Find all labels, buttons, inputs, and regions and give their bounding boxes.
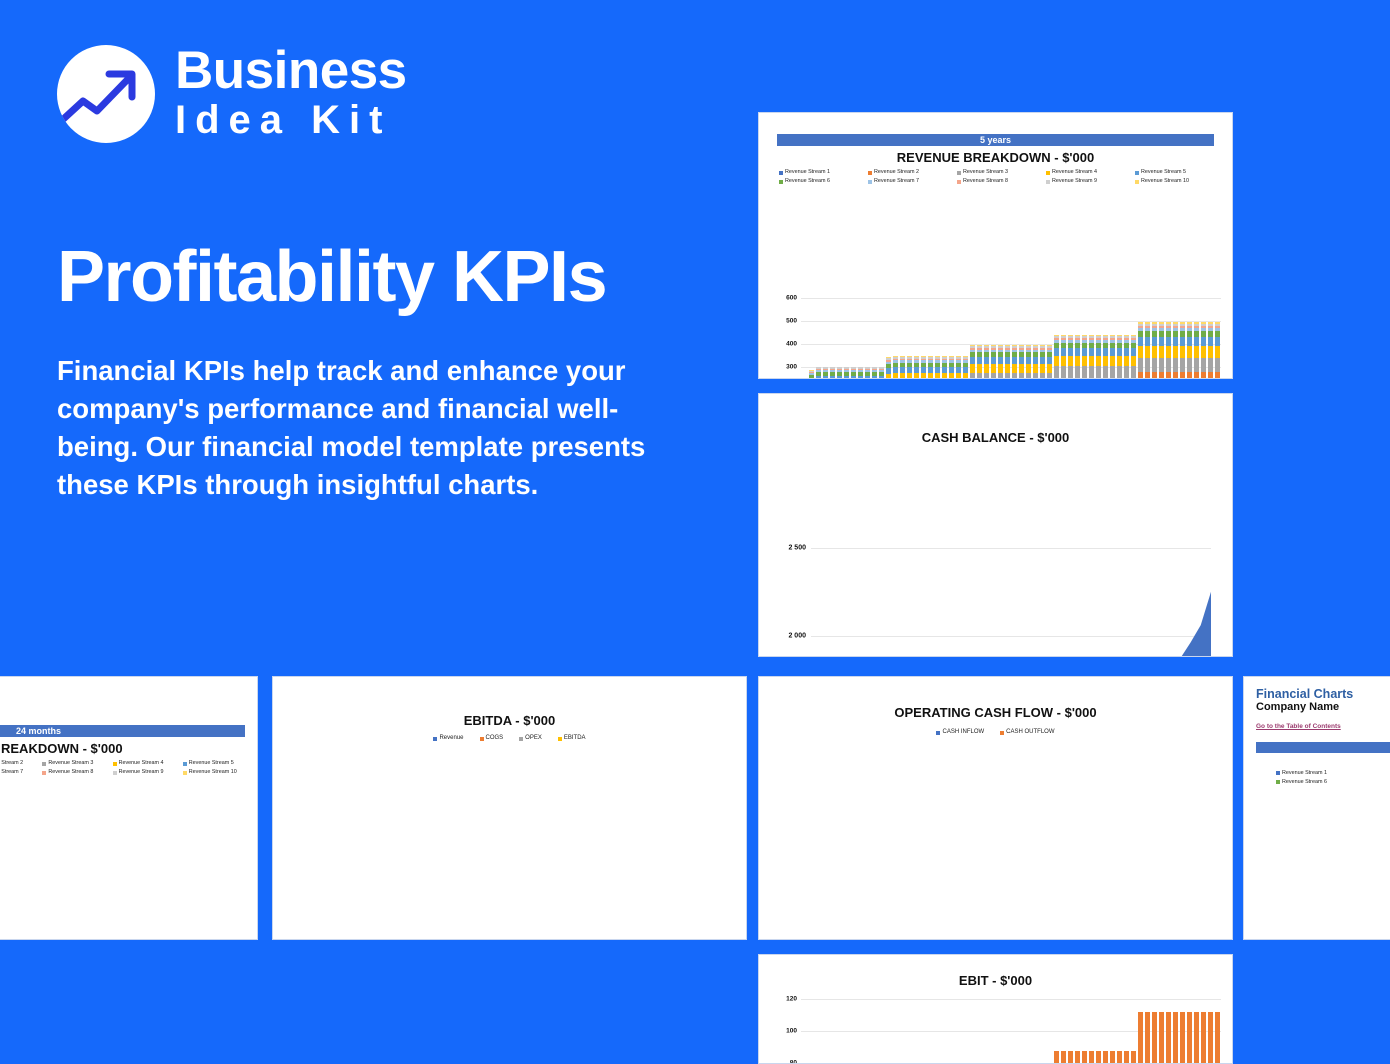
y-axis-tick-label: 400	[759, 340, 797, 347]
y-axis-tick-label: 120	[759, 996, 797, 1003]
panel-ebit: EBIT - $'000 12010080	[758, 954, 1233, 1064]
bar-segment	[858, 376, 864, 379]
bar-segment	[1103, 356, 1109, 367]
bar-segment	[1131, 366, 1137, 379]
bar-segment	[1082, 348, 1088, 356]
bar-segment	[914, 373, 920, 379]
bar-segment	[1208, 358, 1214, 372]
bar-segment	[1054, 348, 1060, 356]
bar	[893, 356, 899, 379]
bar	[1180, 1012, 1185, 1064]
brand-name-secondary: Idea Kit	[175, 97, 407, 143]
bar-segment	[928, 373, 934, 379]
panel-revenue-breakdown-24m: 24 months REAKDOWN - $'000 Revenue Strea…	[0, 676, 258, 940]
bar-segment	[1152, 372, 1158, 379]
bar-segment	[1201, 346, 1207, 358]
bar-segment	[1187, 346, 1193, 358]
bar	[970, 345, 976, 379]
panel-ebitda: EBITDA - $'000 RevenueCOGSOPEXEBITDA 600…	[272, 676, 747, 940]
bar	[1082, 335, 1088, 379]
bar	[1068, 335, 1074, 379]
bar-segment	[949, 373, 955, 379]
bar-segment	[1061, 366, 1067, 379]
bar-segment	[1166, 346, 1172, 358]
bar-segment	[1026, 364, 1032, 373]
bar	[1061, 335, 1067, 379]
bar	[1089, 1051, 1094, 1064]
bar	[1194, 1012, 1199, 1064]
bar-segment	[1026, 357, 1032, 364]
bar	[1173, 1012, 1178, 1064]
bar-segment	[1138, 372, 1144, 379]
bar-segment	[1047, 357, 1053, 364]
bar	[984, 345, 990, 379]
bar-segment	[1096, 348, 1102, 356]
bar-segment	[816, 376, 822, 379]
bar-segment	[1194, 337, 1200, 345]
bar	[1117, 1051, 1122, 1064]
bar-segment	[1152, 337, 1158, 345]
bar	[1215, 1012, 1220, 1064]
bar-segment	[991, 364, 997, 373]
bar-segment	[1208, 372, 1214, 379]
bar-segment	[1208, 337, 1214, 345]
bar	[1166, 322, 1172, 379]
bar	[942, 356, 948, 379]
bar-segment	[1215, 358, 1221, 372]
bar-segment	[1026, 373, 1032, 379]
bar	[935, 356, 941, 379]
bar	[928, 356, 934, 379]
bar-segment	[1145, 358, 1151, 372]
bar-segment	[1215, 346, 1221, 358]
bar-segment	[1124, 366, 1130, 379]
bar	[1145, 322, 1151, 379]
bar-segment	[1173, 346, 1179, 358]
bar	[1103, 1051, 1108, 1064]
bar	[1075, 1051, 1080, 1064]
bar	[1117, 335, 1123, 379]
bar	[1054, 1051, 1059, 1064]
bar-segment	[1117, 348, 1123, 356]
bar-segment	[1201, 358, 1207, 372]
y-axis-tick-label: 100	[759, 1028, 797, 1035]
bar-segment	[1173, 372, 1179, 379]
bar-segment	[1103, 366, 1109, 379]
bar	[1138, 1012, 1143, 1064]
hero-description: Financial KPIs help track and enhance yo…	[57, 352, 647, 504]
bar	[1131, 335, 1137, 379]
bar-segment	[998, 373, 1004, 379]
bar	[837, 367, 843, 379]
bar	[1194, 322, 1200, 379]
bar-segment	[956, 373, 962, 379]
bar-segment	[900, 373, 906, 379]
bar	[1124, 335, 1130, 379]
bar-series	[801, 298, 1221, 379]
bar-segment	[1173, 358, 1179, 372]
bar-segment	[1124, 356, 1130, 367]
bar-segment	[1040, 373, 1046, 379]
bar-segment	[1138, 358, 1144, 372]
bar-segment	[1117, 356, 1123, 367]
bar-segment	[1040, 364, 1046, 373]
bar-segment	[1145, 337, 1151, 345]
bar-segment	[1075, 348, 1081, 356]
bar-segment	[1075, 366, 1081, 379]
bar-segment	[1110, 366, 1116, 379]
bar-segment	[1159, 337, 1165, 345]
bar	[998, 345, 1004, 379]
bar-segment	[1033, 373, 1039, 379]
bar-segment	[1047, 373, 1053, 379]
bar-segment	[977, 364, 983, 373]
bar-segment	[1033, 357, 1039, 364]
bar-segment	[1110, 356, 1116, 367]
bar-segment	[851, 376, 857, 379]
bar-segment	[1047, 364, 1053, 373]
bar-segment	[1117, 366, 1123, 379]
bar	[1187, 322, 1193, 379]
bar	[1096, 1051, 1101, 1064]
bar	[865, 367, 871, 379]
bar	[1145, 1012, 1150, 1064]
bar-segment	[1180, 372, 1186, 379]
bar-segment	[1019, 364, 1025, 373]
y-axis-tick-label: 600	[759, 295, 797, 302]
bar-segment	[977, 373, 983, 379]
bar-segment	[921, 373, 927, 379]
bar	[900, 356, 906, 379]
bar-segment	[1054, 356, 1060, 367]
bar-segment	[809, 375, 815, 378]
bar-segment	[1089, 356, 1095, 367]
bar-segment	[1145, 346, 1151, 358]
cash-balance-area	[759, 394, 1233, 657]
bar	[823, 367, 829, 379]
bar	[844, 367, 850, 379]
bar-segment	[1068, 356, 1074, 367]
bar	[851, 367, 857, 379]
bar	[921, 356, 927, 379]
bar	[963, 356, 969, 379]
bar-segment	[823, 376, 829, 379]
brand-logo: Business Idea Kit	[57, 44, 407, 143]
bar-segment	[1159, 346, 1165, 358]
bar	[1054, 335, 1060, 379]
bar	[830, 367, 836, 379]
growth-chart-circle-icon	[57, 45, 155, 143]
bar-segment	[1124, 348, 1130, 356]
bar-segment	[1061, 356, 1067, 367]
bar-segment	[970, 373, 976, 379]
bar-segment	[1012, 357, 1018, 364]
panel-financial-charts: Financial Charts Company Name Go to the …	[1243, 676, 1390, 940]
bar	[1040, 345, 1046, 379]
bar	[1103, 335, 1109, 379]
bar-segment	[998, 364, 1004, 373]
bar	[1166, 1012, 1171, 1064]
y-axis-tick-label: 300	[759, 363, 797, 370]
bar-segment	[1005, 364, 1011, 373]
bar	[858, 367, 864, 379]
bar	[1159, 322, 1165, 379]
bar	[1047, 345, 1053, 379]
bar-segment	[872, 376, 878, 379]
bar-segment	[1096, 366, 1102, 379]
bar-segment	[1180, 358, 1186, 372]
bar	[1005, 345, 1011, 379]
bar-segment	[963, 373, 969, 379]
bar-segment	[1194, 358, 1200, 372]
bar-segment	[1089, 348, 1095, 356]
bar-segment	[1138, 337, 1144, 345]
bar	[816, 367, 822, 379]
panel-cash-balance: CASH BALANCE - $'000 2 5002 0001 5001 00…	[758, 393, 1233, 657]
bar	[1124, 1051, 1129, 1064]
bar-segment	[984, 357, 990, 364]
bar-segment	[1187, 358, 1193, 372]
bar	[1068, 1051, 1073, 1064]
bar-segment	[1145, 372, 1151, 379]
bar-segment	[907, 373, 913, 379]
bar-segment	[886, 374, 892, 379]
bar-segment	[991, 373, 997, 379]
bar-segment	[1082, 356, 1088, 367]
bar-segment	[1166, 337, 1172, 345]
bar	[1110, 335, 1116, 379]
bar	[809, 370, 815, 379]
panel-operating-cash-flow: OPERATING CASH FLOW - $'000 CASH INFLOWC…	[758, 676, 1233, 940]
bar	[1208, 1012, 1213, 1064]
bar-segment	[1075, 356, 1081, 367]
bar	[1208, 322, 1214, 379]
bar-segment	[1012, 373, 1018, 379]
bar	[1061, 1051, 1066, 1064]
bar-segment	[1152, 358, 1158, 372]
bar-segment	[1208, 346, 1214, 358]
bar-segment	[984, 373, 990, 379]
bar-segment	[942, 373, 948, 379]
bar-segment	[830, 376, 836, 379]
bar	[886, 357, 892, 379]
bar-segment	[1082, 366, 1088, 379]
bar-segment	[1180, 346, 1186, 358]
bar-segment	[1159, 372, 1165, 379]
page-title: Profitability KPIs	[57, 240, 606, 316]
bar	[1173, 322, 1179, 379]
ebitda-line	[273, 677, 747, 940]
bar	[1026, 345, 1032, 379]
bar	[977, 345, 983, 379]
bar-segment	[893, 373, 899, 379]
bar-segment	[1061, 348, 1067, 356]
bar-segment	[970, 364, 976, 373]
bar-segment	[1138, 346, 1144, 358]
bar-segment	[1012, 364, 1018, 373]
ebit-bar-series	[801, 995, 1221, 1064]
bar	[949, 356, 955, 379]
bar-segment	[1005, 357, 1011, 364]
bar-segment	[1054, 366, 1060, 379]
bar-segment	[935, 373, 941, 379]
bar-segment	[844, 376, 850, 379]
bar	[956, 356, 962, 379]
bar	[1187, 1012, 1192, 1064]
bar	[872, 367, 878, 379]
panel-revenue-breakdown-5y: 5 years REVENUE BREAKDOWN - $'000 Revenu…	[758, 112, 1233, 379]
bar-segment	[1019, 373, 1025, 379]
bar-segment	[1019, 357, 1025, 364]
bar	[1201, 1012, 1206, 1064]
bar	[1215, 322, 1221, 379]
bar-segment	[970, 357, 976, 364]
bar-segment	[1201, 337, 1207, 345]
bar	[1019, 345, 1025, 379]
bar	[1110, 1051, 1115, 1064]
bar-segment	[1187, 337, 1193, 345]
bar-segment	[1110, 348, 1116, 356]
bar	[1159, 1012, 1164, 1064]
bar-segment	[1215, 372, 1221, 379]
y-axis-tick-label: 80	[759, 1060, 797, 1064]
bar-segment	[1131, 356, 1137, 367]
bar-segment	[1194, 372, 1200, 379]
bar-segment	[1152, 346, 1158, 358]
bar-segment	[1173, 337, 1179, 345]
bar	[1131, 1051, 1136, 1064]
bar-segment	[1005, 373, 1011, 379]
bar-segment	[977, 357, 983, 364]
bar-segment	[1033, 364, 1039, 373]
bar-segment	[1201, 372, 1207, 379]
bar	[1152, 1012, 1157, 1064]
bar-segment	[1089, 366, 1095, 379]
bar-segment	[984, 364, 990, 373]
y-axis-tick-label: 500	[759, 317, 797, 324]
bar-segment	[837, 376, 843, 379]
bar	[1012, 345, 1018, 379]
bar-segment	[998, 357, 1004, 364]
bar-segment	[1068, 366, 1074, 379]
bar	[914, 356, 920, 379]
bar	[907, 356, 913, 379]
bar	[1089, 335, 1095, 379]
bar-segment	[1040, 357, 1046, 364]
bar-segment	[1159, 358, 1165, 372]
bar-segment	[879, 376, 885, 379]
bar	[1138, 322, 1144, 379]
hero-section: Business Idea Kit Profitability KPIs Fin…	[0, 0, 740, 672]
bar	[1180, 322, 1186, 379]
bar	[1096, 335, 1102, 379]
bar	[1152, 322, 1158, 379]
bar	[1082, 1051, 1087, 1064]
bar	[1033, 345, 1039, 379]
bar-segment	[1194, 346, 1200, 358]
bar-segment	[1187, 372, 1193, 379]
bar	[879, 367, 885, 379]
brand-name-primary: Business	[175, 44, 407, 97]
bar-segment	[1068, 348, 1074, 356]
bar-segment	[991, 357, 997, 364]
bar	[991, 345, 997, 379]
bar-segment	[865, 376, 871, 379]
bar-segment	[1096, 356, 1102, 367]
bar	[1075, 335, 1081, 379]
bar-segment	[1166, 372, 1172, 379]
bar-segment	[1180, 337, 1186, 345]
bar-segment	[1131, 348, 1137, 356]
bar	[1201, 322, 1207, 379]
bar-segment	[1166, 358, 1172, 372]
bar-segment	[1215, 337, 1221, 345]
bar-segment	[1103, 348, 1109, 356]
